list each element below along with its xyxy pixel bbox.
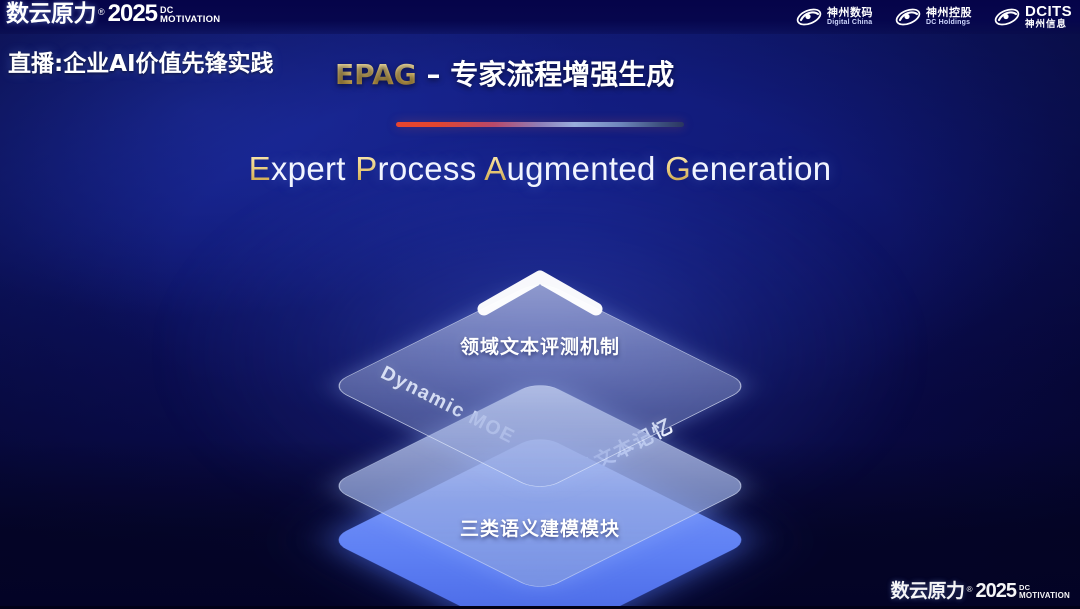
live-stream-title: 直播:企业AI价值先锋实践	[8, 44, 274, 78]
hero-cap-p: P	[355, 150, 377, 187]
spiral-logo-icon	[796, 6, 822, 28]
partner-name-en: DCITS	[1025, 4, 1072, 20]
partner-name-en: Digital China	[827, 19, 873, 26]
brand-dc-motivation: DC MOTIVATION	[160, 6, 220, 25]
chevron-up-icon	[474, 265, 606, 319]
spiral-logo-icon	[895, 6, 921, 28]
hero-word-augmented: ugmented	[507, 150, 666, 187]
partner-logo-group: 神州数码 Digital China 神州控股 DC Holdings	[796, 4, 1072, 30]
partner-label: 神州控股 DC Holdings	[926, 7, 972, 26]
brand-year: 2025	[975, 581, 1016, 601]
partner-logo-digital-china: 神州数码 Digital China	[796, 6, 873, 28]
hero-word-generation: eneration	[691, 150, 831, 187]
partner-name-cn: 神州数码	[827, 7, 873, 19]
page-title-subtitle: – 专家流程增强生成	[417, 58, 675, 91]
title-divider	[396, 122, 684, 127]
partner-label: 神州数码 Digital China	[827, 7, 873, 26]
partner-logo-dc-holdings: 神州控股 DC Holdings	[895, 6, 972, 28]
layered-stack-diagram: 领域文本评测机制 三类语义建模模块	[0, 218, 1080, 578]
hero-cap-g: G	[665, 150, 691, 187]
partner-name-cn: 神州信息	[1025, 20, 1072, 30]
hero-cap-a: A	[484, 150, 506, 187]
partner-name-cn: 神州控股	[926, 7, 972, 19]
spiral-logo-icon	[994, 6, 1020, 28]
partner-logo-dcits: DCITS 神州信息	[994, 4, 1072, 30]
slide-canvas: 数云原力 ® 2025 DC MOTIVATION 直播:企业AI价值先锋实践 …	[0, 0, 1080, 609]
brand-name-cn: 数云原力	[6, 3, 96, 26]
brand-year: 2025	[108, 2, 157, 26]
brand-dc-motivation: DC MOTIVATION	[1019, 584, 1070, 600]
hero-word-expert: xpert	[271, 150, 355, 187]
partner-label: DCITS 神州信息	[1025, 4, 1072, 30]
page-title-acronym: EPAG	[335, 58, 417, 91]
brand-name-cn: 数云原力	[891, 582, 965, 601]
hero-expansion-text: Expert Process Augmented Generation	[0, 150, 1080, 188]
brand-logo-top: 数云原力 ® 2025 DC MOTIVATION	[6, 2, 220, 26]
brand-dc-line2: MOTIVATION	[160, 15, 220, 25]
hero-cap-e: E	[249, 150, 271, 187]
partner-name-en: DC Holdings	[926, 19, 972, 26]
registered-mark-icon: ®	[967, 586, 973, 594]
registered-mark-icon: ®	[98, 8, 105, 17]
stack-layer-top-label: 领域文本评测机制	[460, 332, 620, 359]
brand-dc-line2: MOTIVATION	[1019, 592, 1070, 600]
brand-logo-bottom: 数云原力 ® 2025 DC MOTIVATION	[891, 581, 1070, 601]
page-title: EPAG – 专家流程增强生成	[335, 53, 674, 93]
hero-word-process: rocess	[378, 150, 485, 187]
stack-layer-bottom-label: 三类语义建模模块	[460, 514, 620, 541]
